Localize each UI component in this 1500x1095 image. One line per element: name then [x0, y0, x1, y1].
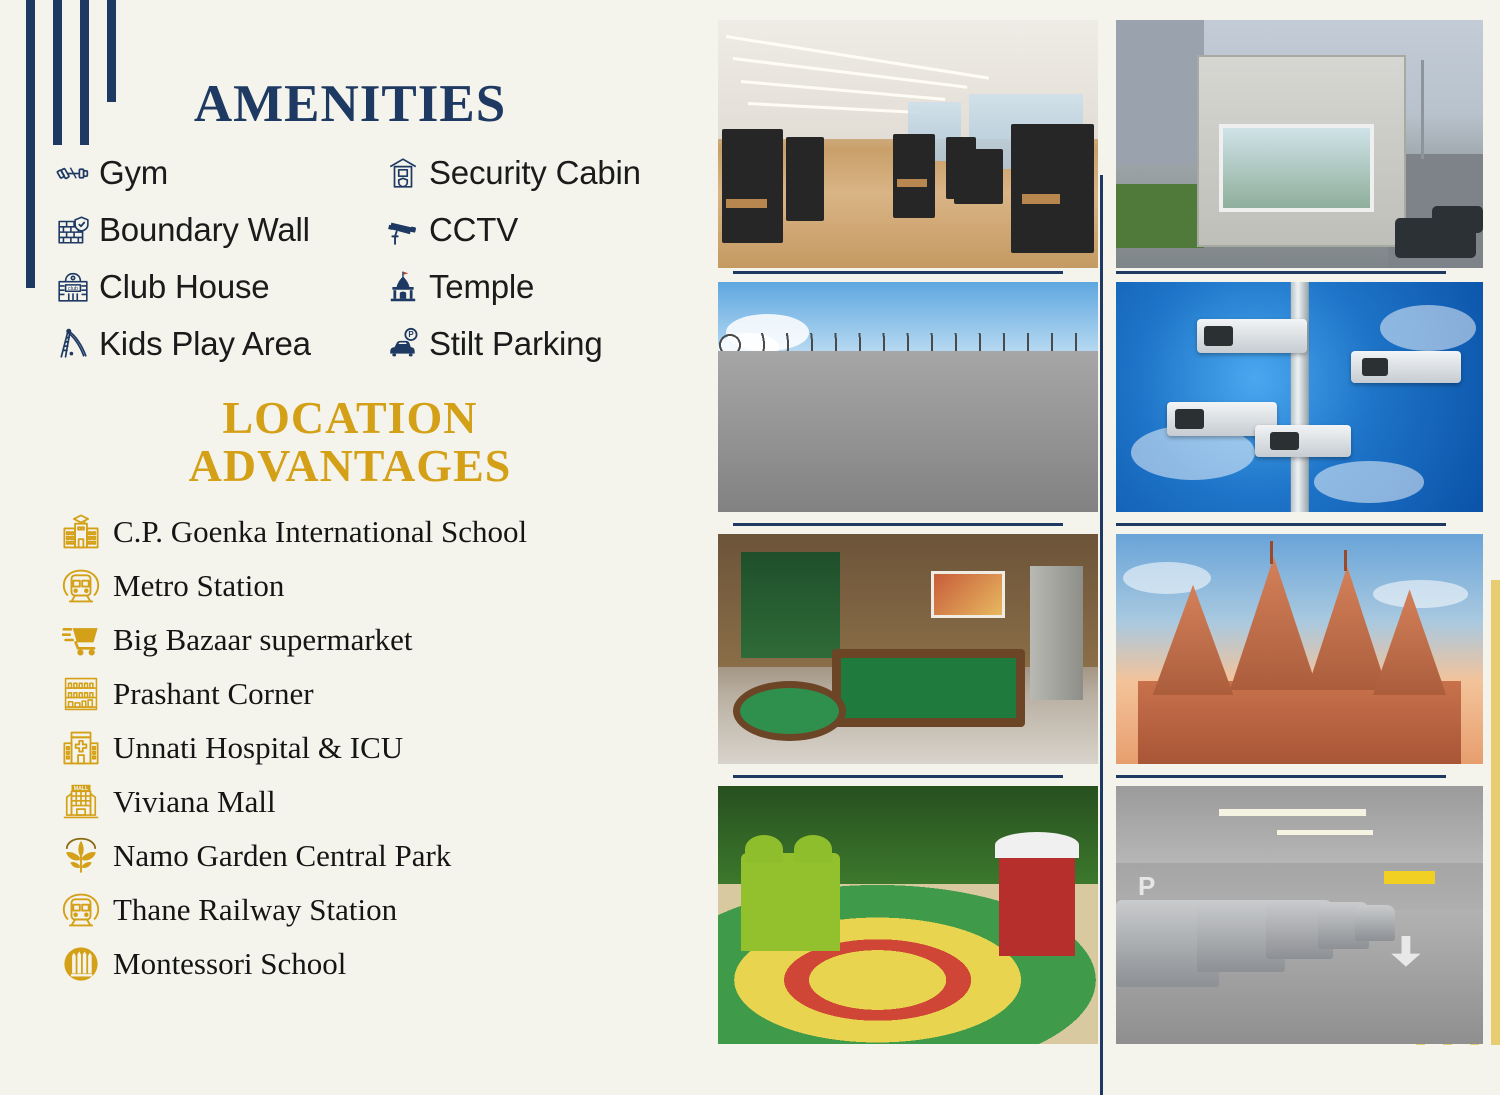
location-label: Big Bazaar supermarket	[113, 622, 413, 658]
location-advantages-heading: LOCATION ADVANTAGES	[40, 394, 660, 491]
plant-leaf-icon	[62, 837, 100, 875]
location-label: Namo Garden Central Park	[113, 838, 451, 874]
amenity-label: Stilt Parking	[429, 325, 602, 363]
shopping-cart-icon	[62, 621, 100, 659]
location-item-hospital[interactable]: Unnati Hospital & ICU	[62, 721, 702, 775]
amenities-photo-grid: P	[718, 20, 1483, 1025]
dumbbell-icon	[56, 156, 90, 190]
photo-temple[interactable]	[1116, 534, 1483, 764]
location-label: Thane Railway Station	[113, 892, 397, 928]
location-item-thane-railway[interactable]: Thane Railway Station	[62, 883, 702, 937]
amenity-label: Club House	[99, 268, 269, 306]
amenity-item-boundary-wall[interactable]: Boundary Wall	[56, 205, 386, 255]
photo-club-house[interactable]	[718, 534, 1098, 764]
amenity-item-cctv[interactable]: CCTV	[386, 205, 686, 255]
location-label: C.P. Goenka International School	[113, 514, 527, 550]
svg-text:P: P	[408, 330, 414, 339]
location-item-metro-station[interactable]: Metro Station	[62, 559, 702, 613]
amenity-item-security-cabin[interactable]: Security Cabin	[386, 148, 686, 198]
photo-cctv-image	[1116, 282, 1483, 512]
amenity-label: Kids Play Area	[99, 325, 311, 363]
location-item-montessori-school[interactable]: Montessori School	[62, 937, 702, 991]
cctv-camera-icon	[386, 213, 420, 247]
location-label: Prashant Corner	[113, 676, 314, 712]
amenity-label: Boundary Wall	[99, 211, 310, 249]
grid-divider-row1-left	[733, 271, 1063, 274]
photo-gym[interactable]	[718, 20, 1098, 268]
temple-icon	[386, 270, 420, 304]
location-item-big-bazaar[interactable]: Big Bazaar supermarket	[62, 613, 702, 667]
grid-divider-row1-right	[1116, 271, 1446, 274]
grid-divider-row2-right	[1116, 523, 1446, 526]
photo-security-cabin[interactable]	[1116, 20, 1483, 268]
location-label: Viviana Mall	[113, 784, 276, 820]
brochure-page: AMENITIES Gym	[0, 0, 1500, 1045]
location-label: Montessori School	[113, 946, 346, 982]
grid-divider-column	[1100, 175, 1103, 1095]
photo-boundary-wall-image	[718, 282, 1098, 512]
amenity-item-gym[interactable]: Gym	[56, 148, 386, 198]
photo-stilt-parking-image: P	[1116, 786, 1483, 1044]
railway-train-icon	[62, 891, 100, 929]
location-label: Unnati Hospital & ICU	[113, 730, 403, 766]
metro-train-icon	[62, 567, 100, 605]
school-building-icon	[62, 513, 100, 551]
amenity-item-kids-play-area[interactable]: Kids Play Area	[56, 319, 386, 369]
photo-temple-image	[1116, 534, 1483, 764]
amenity-label: Temple	[429, 268, 534, 306]
photo-cctv[interactable]	[1116, 282, 1483, 512]
photo-kids-play-area-image	[718, 786, 1098, 1044]
amenity-label: Gym	[99, 154, 168, 192]
amenities-list: Gym Security Cabin	[56, 148, 686, 369]
left-content-column: AMENITIES Gym	[0, 0, 700, 1045]
store-shelf-icon	[62, 675, 100, 713]
car-parking-icon: P	[386, 327, 420, 361]
security-cabin-icon	[386, 156, 420, 190]
mall-building-icon: MALL	[62, 783, 100, 821]
location-item-namo-garden[interactable]: Namo Garden Central Park	[62, 829, 702, 883]
amenity-label: CCTV	[429, 211, 518, 249]
location-heading-line2: ADVANTAGES	[40, 442, 660, 490]
decor-gold-bar-4	[1491, 580, 1500, 1045]
club-house-icon: club	[56, 270, 90, 304]
photo-club-house-image	[718, 534, 1098, 764]
grid-divider-row2-left	[733, 523, 1063, 526]
location-item-prashant-corner[interactable]: Prashant Corner	[62, 667, 702, 721]
location-advantages-list: C.P. Goenka International School Metro	[62, 505, 702, 991]
grid-divider-row3-right	[1116, 775, 1446, 778]
photo-gym-image	[718, 20, 1098, 268]
slide-playground-icon	[56, 327, 90, 361]
grid-divider-row3-left	[733, 775, 1063, 778]
photo-kids-play-area[interactable]	[718, 786, 1098, 1044]
photo-boundary-wall[interactable]	[718, 282, 1098, 512]
hospital-icon	[62, 729, 100, 767]
brick-wall-shield-icon	[56, 213, 90, 247]
photo-security-cabin-image	[1116, 20, 1483, 268]
amenity-item-temple[interactable]: Temple	[386, 262, 686, 312]
pencils-icon	[62, 945, 100, 983]
amenity-item-stilt-parking[interactable]: P Stilt Parking	[386, 319, 686, 369]
location-heading-line1: LOCATION	[40, 394, 660, 442]
amenity-label: Security Cabin	[429, 154, 641, 192]
location-item-school[interactable]: C.P. Goenka International School	[62, 505, 702, 559]
svg-text:club: club	[68, 286, 78, 292]
amenities-heading: AMENITIES	[40, 78, 660, 131]
location-item-viviana-mall[interactable]: MALL Viviana Mall	[62, 775, 702, 829]
amenity-item-club-house[interactable]: club Club House	[56, 262, 386, 312]
location-label: Metro Station	[113, 568, 284, 604]
photo-stilt-parking[interactable]: P	[1116, 786, 1483, 1044]
